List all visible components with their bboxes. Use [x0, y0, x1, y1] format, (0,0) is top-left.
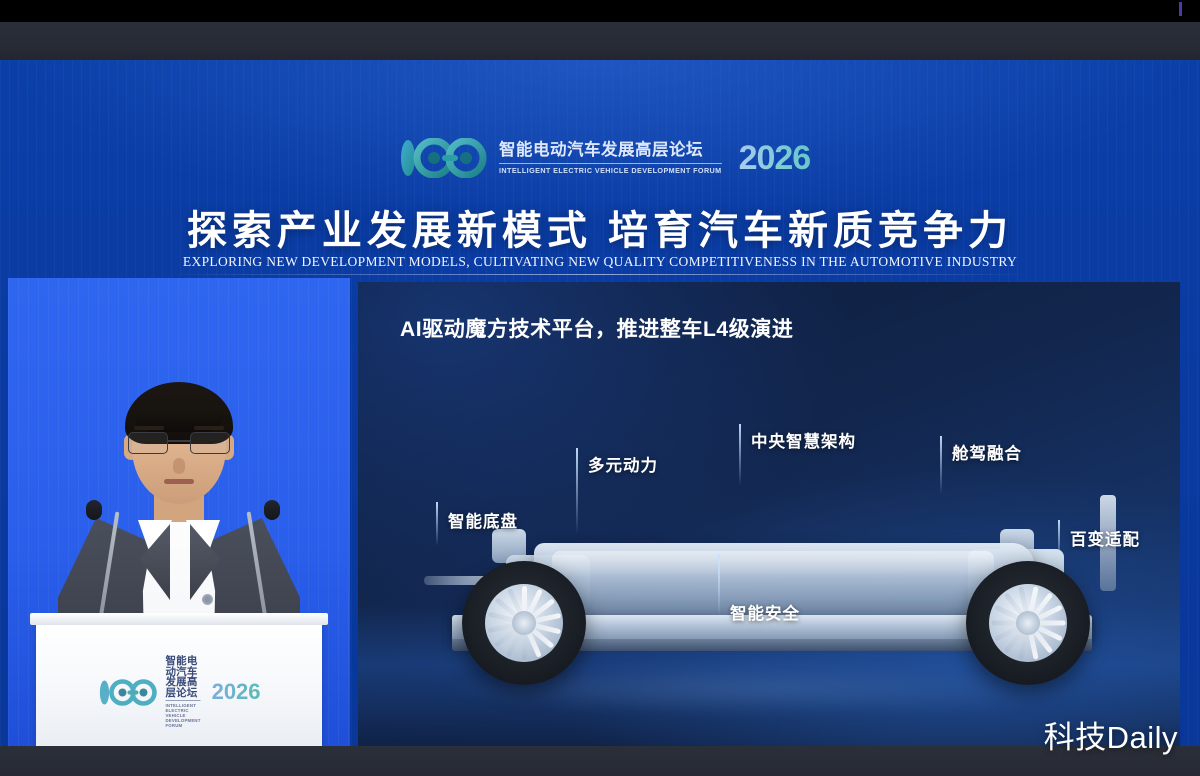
banner-subheadline: EXPLORING NEW DEVELOPMENT MODELS, CULTIV…: [0, 254, 1200, 270]
callout-leader-line: [739, 424, 741, 486]
callout-versatile-adaptation: 百变适配: [1058, 526, 1140, 550]
callout-leader-line: [576, 448, 578, 534]
callout-leader-line: [436, 502, 438, 546]
microphone-head-left: [86, 500, 102, 520]
mouth: [164, 479, 194, 484]
event-logo-text: 智能电动汽车发展高层论坛 INTELLIGENT ELECTRIC VEHICL…: [499, 142, 722, 174]
channel-watermark: 科技Daily: [1044, 712, 1178, 757]
banner-divider: [168, 274, 1032, 275]
bottom-letterbox: [0, 746, 1200, 776]
rim-front: [485, 584, 563, 662]
event-year: 2026: [739, 141, 811, 175]
podium-top-edge: [30, 613, 328, 625]
ev-chassis-graphic: [414, 453, 1130, 703]
callout-label: 智能底盘: [436, 508, 518, 532]
event-title-cn: 智能电动汽车发展高层论坛: [499, 142, 722, 164]
podium: 智能电动汽车发展高层论坛 INTELLIGENT ELECTRIC VEHICL…: [36, 622, 322, 746]
speaker-video-panel: 智能电动汽车发展高层论坛 INTELLIGENT ELECTRIC VEHICL…: [8, 278, 350, 746]
callout-label: 中央智慧架构: [739, 428, 856, 452]
broadcast-frame: 智能电动汽车发展高层论坛 INTELLIGENT ELECTRIC VEHICL…: [0, 60, 1200, 746]
lens-left: [128, 432, 168, 454]
callout-intelligent-safety: 智能安全: [718, 600, 800, 624]
callout-leader-line: [718, 554, 720, 616]
eyeglasses: [126, 432, 232, 454]
callout-label: 智能安全: [718, 600, 800, 624]
podium-logo-text: 智能电动汽车发展高层论坛 INTELLIGENT ELECTRIC VEHICL…: [165, 656, 200, 728]
callout-label: 多元动力: [576, 452, 658, 476]
event-logo-lockup: 智能电动汽车发展高层论坛 INTELLIGENT ELECTRIC VEHICL…: [398, 138, 810, 178]
wheel-rear: [966, 561, 1090, 685]
podium-forum-100-logo-icon: [97, 679, 159, 706]
microphone-head-right: [264, 500, 280, 520]
callout-leader-line: [1058, 520, 1060, 562]
slide-title: AI驱动魔方技术平台，推进整车L4级演进: [400, 313, 794, 343]
callout-intelligent-chassis: 智能底盘: [436, 508, 518, 532]
podium-logo-lockup: 智能电动汽车发展高层论坛 INTELLIGENT ELECTRIC VEHICL…: [97, 656, 260, 728]
banner-headline: 探索产业发展新模式 培育汽车新质竞争力: [0, 198, 1200, 256]
lapel-pin: [202, 594, 213, 605]
podium-year: 2026: [212, 681, 261, 703]
eyebrow-left: [134, 426, 164, 430]
callout-label: 百变适配: [1058, 526, 1140, 550]
callout-leader-line: [940, 436, 942, 494]
forum-100-logo-icon: [398, 138, 490, 178]
callout-cabin-driving-fusion: 舱驾融合: [940, 440, 1022, 464]
eyebrow-right: [194, 426, 224, 430]
nose: [173, 458, 185, 474]
podium-title-en: INTELLIGENT ELECTRIC VEHICLE DEVELOPMENT…: [165, 703, 200, 728]
broadcast-screenshot: 智能电动汽车发展高层论坛 INTELLIGENT ELECTRIC VEHICL…: [0, 0, 1200, 776]
rim-rear: [989, 584, 1067, 662]
callout-label: 舱驾融合: [940, 440, 1022, 464]
glasses-bridge: [168, 440, 190, 442]
top-letterbox-gray: [0, 22, 1200, 60]
podium-title-cn: 智能电动汽车发展高层论坛: [165, 656, 200, 701]
event-title-en: INTELLIGENT ELECTRIC VEHICLE DEVELOPMENT…: [499, 167, 722, 174]
presentation-slide-panel: AI驱动魔方技术平台，推进整车L4级演进: [358, 282, 1180, 746]
callout-diverse-powertrain: 多元动力: [576, 452, 658, 476]
top-letterbox-black: [0, 0, 1200, 22]
wheel-front: [462, 561, 586, 685]
lens-right: [190, 432, 230, 454]
callout-central-smart-architecture: 中央智慧架构: [739, 428, 856, 452]
